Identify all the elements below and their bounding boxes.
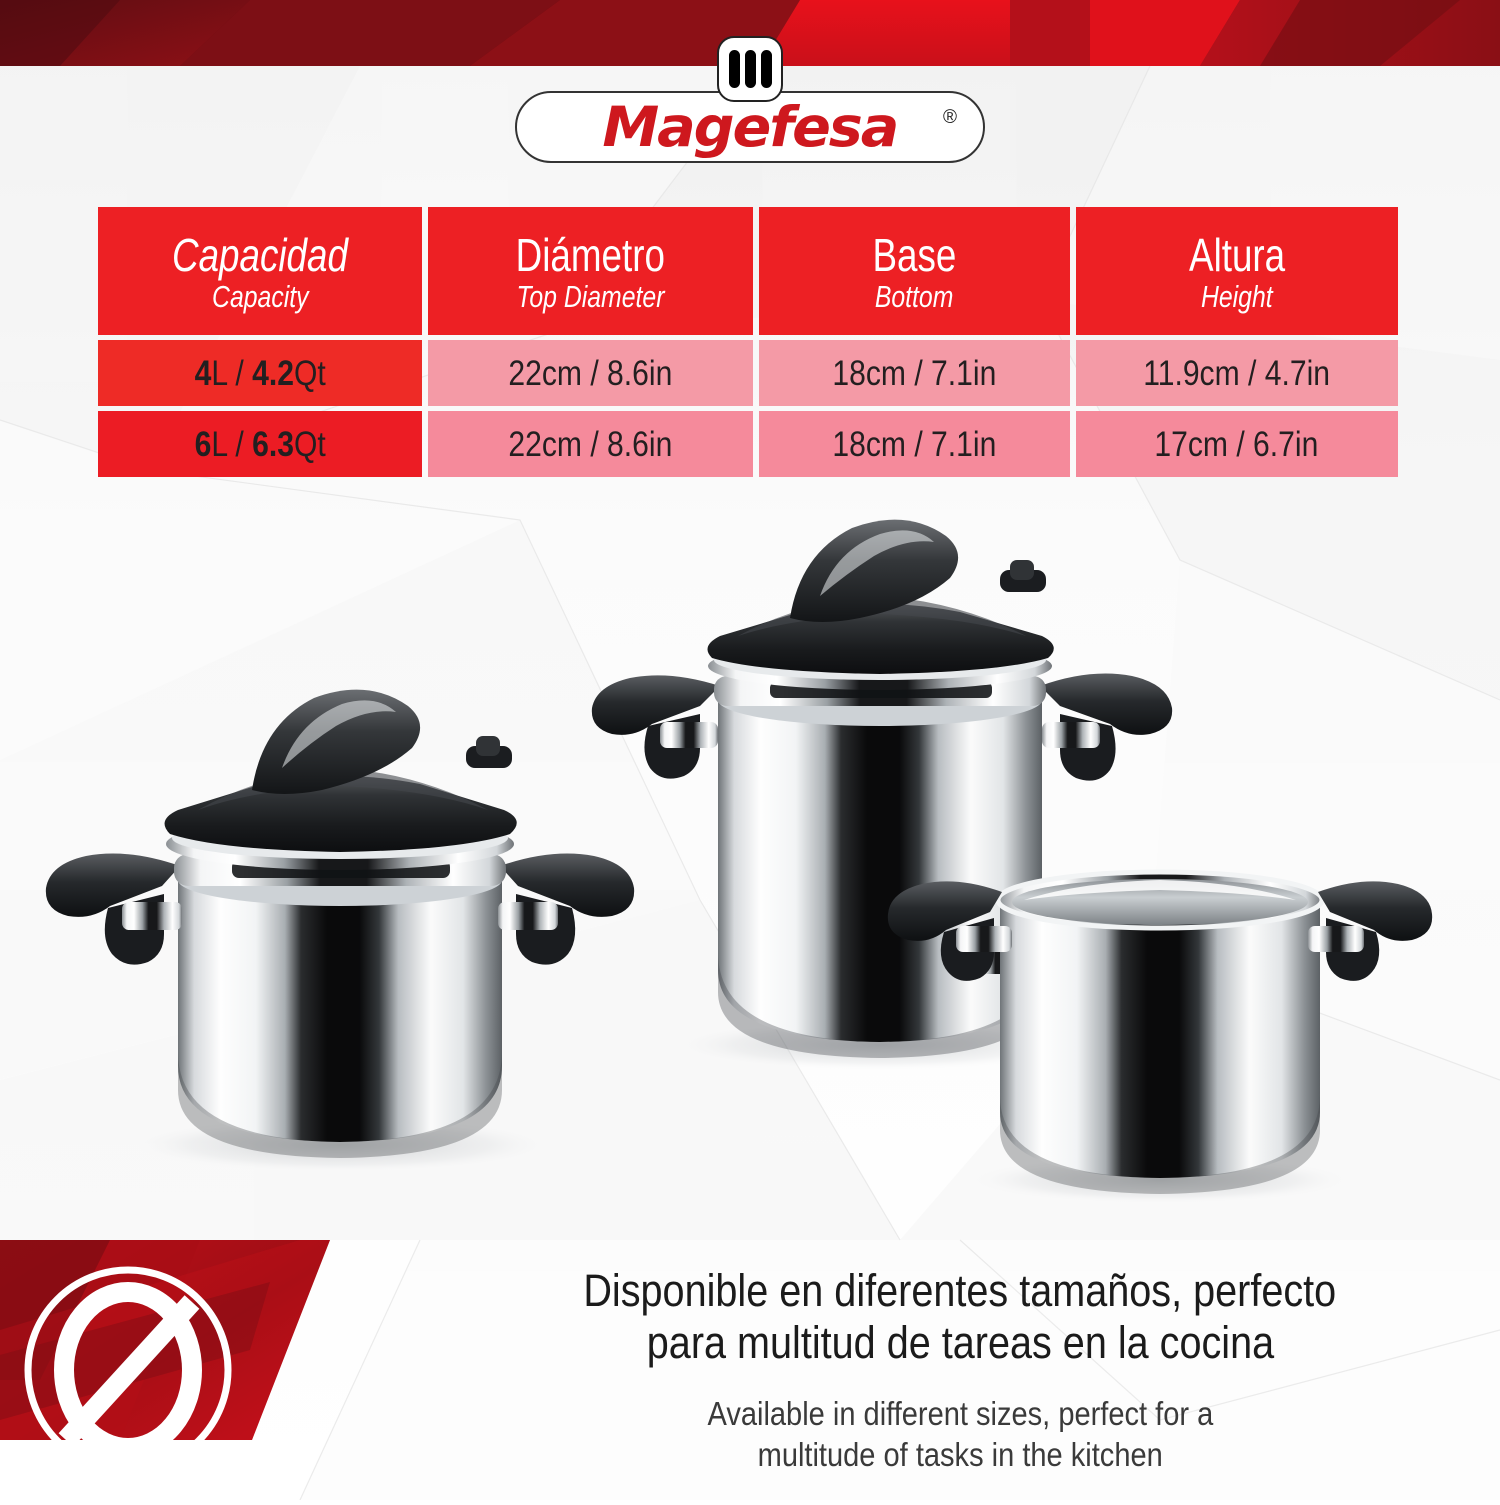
header-es-diameter: Diámetro — [516, 232, 665, 278]
logo-badge-icon — [717, 36, 783, 102]
cell-diameter: 22cm / 8.6in — [428, 411, 752, 477]
header-en-diameter: Top Diameter — [517, 281, 665, 314]
brand-logo: Magefesa ® — [0, 36, 1500, 163]
table-header-row: Capacidad Capacity Diámetro Top Diameter… — [98, 207, 1398, 335]
lid-assembly — [708, 520, 1054, 674]
pressure-valve-knob — [466, 736, 512, 768]
cell-base: 18cm / 7.1in — [759, 340, 1070, 406]
caption-es-line-1: Disponible en diferentes tamaños, perfec… — [584, 1265, 1337, 1317]
side-handle-left — [592, 675, 720, 778]
lid-assembly — [165, 690, 517, 852]
caption-en-line-1: Available in different sizes, perfect fo… — [707, 1394, 1213, 1434]
product-pressure-cooker-4l — [46, 690, 634, 1173]
header-es-capacity: Capacidad — [172, 232, 348, 278]
table-row: 4L / 4.2Qt 22cm / 8.6in 18cm / 7.1in 11.… — [98, 340, 1398, 406]
registered-trademark-icon: ® — [943, 107, 957, 129]
cell-capacity: 6L / 6.3Qt — [98, 411, 422, 477]
value-diameter: 22cm / 8.6in — [509, 427, 673, 462]
value-height: 17cm / 6.7in — [1155, 427, 1319, 462]
value-base: 18cm / 7.1in — [832, 427, 996, 462]
value-diameter: 22cm / 8.6in — [509, 356, 673, 391]
product-photo-group — [0, 500, 1500, 1240]
value-capacity: 6L / 6.3Qt — [195, 427, 326, 462]
header-cell-diameter: Diámetro Top Diameter — [428, 207, 752, 335]
logo-wordmark: Magefesa — [603, 100, 898, 155]
caption-en-line-2: multitude of tasks in the kitchen — [757, 1435, 1162, 1475]
value-height: 11.9cm / 4.7in — [1143, 356, 1330, 391]
cell-capacity: 4L / 4.2Qt — [98, 340, 422, 406]
footer-section: Disponible en diferentes tamaños, perfec… — [0, 1240, 1500, 1500]
specifications-table: Capacidad Capacity Diámetro Top Diameter… — [98, 207, 1398, 477]
side-handle-left — [46, 854, 182, 965]
side-handle-right — [498, 854, 634, 965]
cell-diameter: 22cm / 8.6in — [428, 340, 752, 406]
table-row: 6L / 6.3Qt 22cm / 8.6in 18cm / 7.1in 17c… — [98, 411, 1398, 477]
pressure-valve-knob — [1000, 560, 1046, 592]
header-en-capacity: Capacity — [212, 281, 308, 314]
caption-es-line-2: para multitud de tareas en la cocina — [646, 1317, 1273, 1369]
diameter-badge-panel — [0, 1240, 420, 1500]
cell-height: 11.9cm / 4.7in — [1076, 340, 1398, 406]
cell-height: 17cm / 6.7in — [1076, 411, 1398, 477]
header-cell-height: Altura Height — [1076, 207, 1398, 335]
header-cell-capacity: Capacidad Capacity — [98, 207, 422, 335]
header-es-height: Altura — [1189, 232, 1285, 278]
value-capacity: 4L / 4.2Qt — [195, 356, 326, 391]
side-handle-right — [1308, 881, 1432, 981]
side-handle-right — [1040, 674, 1172, 781]
header-es-base: Base — [872, 232, 956, 278]
value-base: 18cm / 7.1in — [832, 356, 996, 391]
logo-bar-3 — [761, 50, 772, 88]
footer-caption: Disponible en diferentes tamaños, perfec… — [420, 1240, 1500, 1500]
logo-bar-2 — [745, 50, 756, 88]
header-en-base: Bottom — [875, 281, 954, 314]
logo-bar-1 — [729, 50, 740, 88]
cell-base: 18cm / 7.1in — [759, 411, 1070, 477]
header-cell-base: Base Bottom — [759, 207, 1070, 335]
header-en-height: Height — [1201, 281, 1273, 314]
